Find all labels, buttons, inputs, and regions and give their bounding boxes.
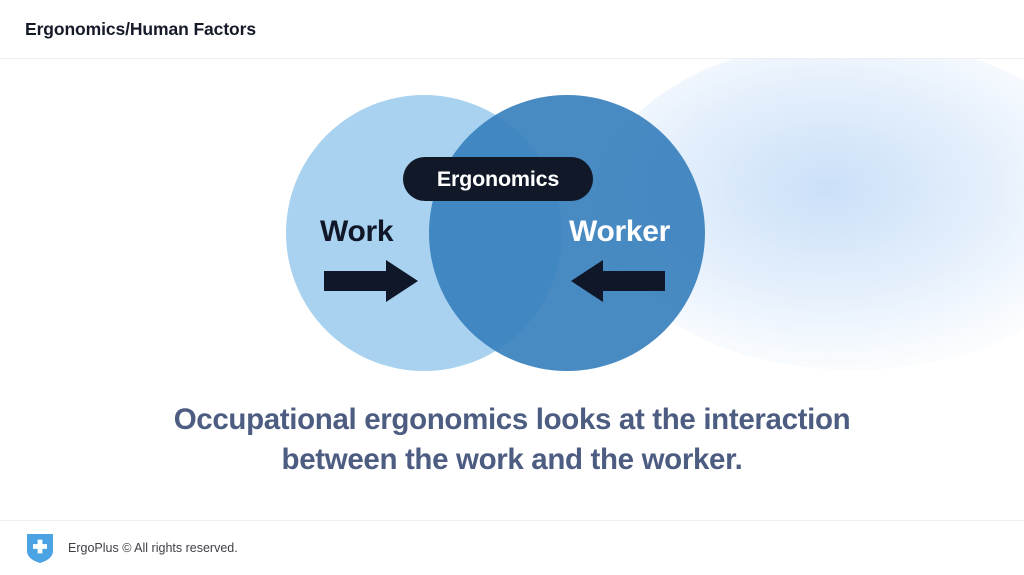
ergonomics-badge: Ergonomics [403,157,593,201]
shield-plus-icon [25,532,55,564]
arrow-left-icon [571,260,665,302]
ergonomics-badge-label: Ergonomics [437,167,559,192]
footer-copyright: ErgoPlus © All rights reserved. [68,541,238,555]
slide-header: Ergonomics/Human Factors [0,0,1024,59]
arrow-right-icon [324,260,418,302]
slide-footer: ErgoPlus © All rights reserved. [0,520,1024,575]
caption-line-2: between the work and the worker. [0,440,1024,480]
venn-label-work: Work [320,215,393,249]
page-title: Ergonomics/Human Factors [25,19,256,40]
slide-canvas: Ergonomics/Human Factors Work Worker Erg… [0,0,1024,575]
venn-diagram: Work Worker Ergonomics [286,95,705,371]
slide-caption: Occupational ergonomics looks at the int… [0,400,1024,480]
venn-label-worker: Worker [569,215,670,249]
caption-line-1: Occupational ergonomics looks at the int… [0,400,1024,440]
footer-content: ErgoPlus © All rights reserved. [25,532,238,564]
